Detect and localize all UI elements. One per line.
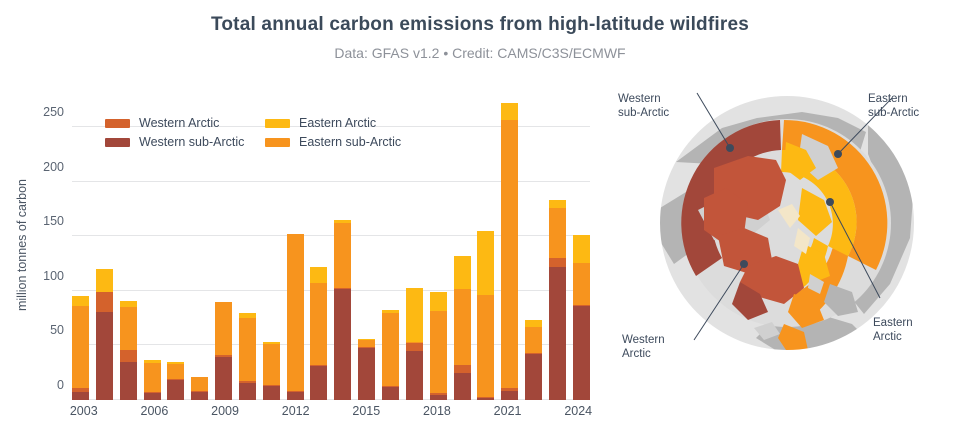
map-label-eastern-sub-arctic: Eastern sub-Arctic bbox=[868, 92, 919, 120]
y-axis-tick-label: 50 bbox=[4, 323, 64, 337]
bar-segment bbox=[382, 313, 399, 386]
bar-segment bbox=[167, 364, 184, 379]
bar-segment bbox=[310, 267, 327, 283]
bar-2010[interactable] bbox=[239, 313, 256, 400]
bar-segment bbox=[239, 383, 256, 400]
bar-2023[interactable] bbox=[549, 200, 566, 400]
map-label-western-sub-arctic: Western sub-Arctic bbox=[618, 92, 669, 120]
bar-segment bbox=[144, 363, 161, 392]
legend-swatch-icon bbox=[105, 119, 130, 128]
bar-2018[interactable] bbox=[430, 292, 447, 400]
legend-swatch-icon bbox=[105, 138, 130, 147]
bar-2012[interactable] bbox=[287, 234, 304, 400]
legend-item[interactable]: Eastern sub-Arctic bbox=[265, 135, 425, 149]
bar-segment bbox=[454, 256, 471, 289]
bar-segment bbox=[549, 208, 566, 258]
x-axis-tick-label: 2024 bbox=[564, 404, 592, 418]
bar-segment bbox=[96, 292, 113, 312]
bar-segment bbox=[454, 373, 471, 400]
bar-segment bbox=[215, 357, 232, 400]
bar-2013[interactable] bbox=[310, 267, 327, 400]
legend-item[interactable]: Eastern Arctic bbox=[265, 116, 425, 130]
bar-2017[interactable] bbox=[406, 288, 423, 400]
legend-label: Eastern sub-Arctic bbox=[299, 135, 401, 149]
bar-segment bbox=[501, 120, 518, 388]
bar-2020[interactable] bbox=[477, 231, 494, 400]
legend-item[interactable]: Western Arctic bbox=[105, 116, 265, 130]
bar-segment bbox=[430, 395, 447, 400]
bar-segment bbox=[310, 283, 327, 365]
legend-swatch-icon bbox=[265, 119, 290, 128]
bar-2005[interactable] bbox=[120, 301, 137, 400]
bar-segment bbox=[167, 380, 184, 400]
bar-segment bbox=[120, 307, 137, 350]
bar-segment bbox=[120, 350, 137, 362]
bar-2014[interactable] bbox=[334, 220, 351, 400]
bar-segment bbox=[549, 258, 566, 267]
y-axis-tick-label: 0 bbox=[4, 378, 64, 392]
bar-segment bbox=[430, 292, 447, 311]
bar-segment bbox=[287, 392, 304, 400]
legend-label: Western sub-Arctic bbox=[139, 135, 244, 149]
bar-segment bbox=[382, 387, 399, 400]
bar-segment bbox=[310, 366, 327, 400]
bar-2004[interactable] bbox=[96, 269, 113, 400]
bar-segment bbox=[72, 392, 89, 400]
bar-2009[interactable] bbox=[215, 302, 232, 400]
bar-segment bbox=[430, 311, 447, 394]
chart-panel: million tonnes of carbon 050100150200250… bbox=[0, 78, 610, 428]
bar-segment bbox=[263, 344, 280, 384]
x-axis-tick-label: 2003 bbox=[70, 404, 98, 418]
bar-segment bbox=[191, 392, 208, 400]
y-axis-tick-label: 150 bbox=[4, 214, 64, 228]
bar-segment bbox=[549, 267, 566, 400]
bar-segment bbox=[477, 231, 494, 295]
bar-segment bbox=[477, 398, 494, 400]
bar-2011[interactable] bbox=[263, 342, 280, 400]
infographic-root: Total annual carbon emissions from high-… bbox=[0, 0, 960, 431]
x-axis-tick-label: 2012 bbox=[282, 404, 310, 418]
bar-segment bbox=[454, 289, 471, 365]
bar-segment bbox=[263, 386, 280, 400]
chart-subtitle: Data: GFAS v1.2 • Credit: CAMS/C3S/ECMWF bbox=[0, 45, 960, 61]
bar-segment bbox=[501, 391, 518, 400]
bar-segment bbox=[239, 318, 256, 381]
bar-segment bbox=[406, 351, 423, 400]
bar-segment bbox=[215, 302, 232, 355]
bar-segment bbox=[191, 377, 208, 391]
bar-segment bbox=[525, 327, 542, 353]
bar-segment bbox=[120, 362, 137, 400]
map-label-western-arctic: Western Arctic bbox=[622, 333, 665, 361]
x-axis-tick-label: 2018 bbox=[423, 404, 451, 418]
bar-segment bbox=[72, 296, 89, 306]
bar-segment bbox=[144, 393, 161, 400]
bar-segment bbox=[501, 103, 518, 119]
bar-segment bbox=[477, 295, 494, 396]
bar-segment bbox=[573, 263, 590, 306]
chart-legend: Western ArcticEastern ArcticWestern sub-… bbox=[105, 116, 405, 149]
page-title: Total annual carbon emissions from high-… bbox=[0, 14, 960, 36]
bar-segment bbox=[454, 365, 471, 373]
legend-swatch-icon bbox=[265, 138, 290, 147]
x-axis-ticks: 20032006200920122015201820212024 bbox=[72, 404, 590, 426]
bar-2015[interactable] bbox=[358, 339, 375, 400]
header: Total annual carbon emissions from high-… bbox=[0, 0, 960, 61]
bar-segment bbox=[334, 223, 351, 287]
bar-segment bbox=[406, 288, 423, 343]
y-axis-tick-label: 200 bbox=[4, 160, 64, 174]
bar-segment bbox=[72, 306, 89, 388]
x-axis-tick-label: 2009 bbox=[211, 404, 239, 418]
bar-2016[interactable] bbox=[382, 310, 399, 401]
bar-segment bbox=[96, 312, 113, 400]
bar-segment bbox=[334, 289, 351, 400]
bar-2003[interactable] bbox=[72, 296, 89, 400]
legend-item[interactable]: Western sub-Arctic bbox=[105, 135, 265, 149]
map-label-eastern-arctic: Eastern Arctic bbox=[873, 316, 913, 344]
bar-2006[interactable] bbox=[144, 360, 161, 400]
bar-segment bbox=[287, 234, 304, 391]
x-axis-tick-label: 2006 bbox=[141, 404, 169, 418]
bar-segment bbox=[96, 269, 113, 292]
bar-segment bbox=[358, 348, 375, 400]
legend-label: Western Arctic bbox=[139, 116, 219, 130]
bar-2008[interactable] bbox=[191, 377, 208, 400]
x-axis-tick-label: 2021 bbox=[494, 404, 522, 418]
legend-label: Eastern Arctic bbox=[299, 116, 376, 130]
bar-2019[interactable] bbox=[454, 256, 471, 400]
x-axis-tick-label: 2015 bbox=[352, 404, 380, 418]
bar-segment bbox=[406, 343, 423, 351]
bar-2021[interactable] bbox=[501, 103, 518, 400]
y-axis-tick-label: 250 bbox=[4, 105, 64, 119]
bar-segment bbox=[573, 306, 590, 400]
bar-2022[interactable] bbox=[525, 320, 542, 400]
map-panel: Western sub-Arctic Eastern sub-Arctic We… bbox=[610, 78, 960, 428]
y-axis-tick-label: 100 bbox=[4, 269, 64, 283]
bar-2024[interactable] bbox=[573, 235, 590, 400]
bar-segment bbox=[573, 235, 590, 262]
bar-segment bbox=[549, 200, 566, 208]
bar-2007[interactable] bbox=[167, 362, 184, 400]
bar-segment bbox=[525, 354, 542, 400]
